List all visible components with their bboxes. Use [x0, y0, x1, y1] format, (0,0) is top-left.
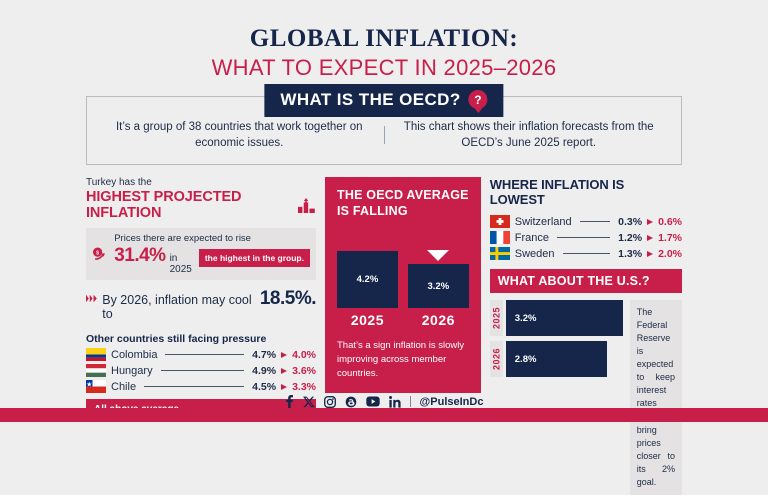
- linkedin-icon[interactable]: [389, 396, 401, 408]
- leader-line: [557, 237, 610, 238]
- turkey-rise-lead: Prices there are expected to rise: [114, 233, 310, 244]
- leader-line: [563, 253, 611, 254]
- oecd-explainer-section: WHAT IS THE OECD? ? It’s a group of 38 c…: [86, 96, 682, 165]
- turkey-kicker: Turkey has the: [86, 177, 316, 188]
- value-2025: 1.2%: [618, 232, 642, 244]
- oecd-average-bar-chart: 4.2% 2025 3.2% 2026: [337, 237, 469, 328]
- lowest-heading: WHERE INFLATION IS LOWEST: [490, 177, 682, 207]
- bottom-accent-bar: [0, 408, 768, 422]
- oecd-average-note: That’s a sign inflation is slowly improv…: [337, 339, 469, 380]
- turkey-highest-badge: the highest in the group.: [199, 249, 310, 267]
- value-2026: 4.0%: [292, 349, 316, 361]
- oecd-average-card: THE OECD AVERAGE IS FALLING 4.2% 2025 3.…: [325, 177, 481, 393]
- turkey-rise-values: 31.4% in 2025 the highest in the group.: [114, 245, 310, 275]
- oecd-divider: [384, 126, 385, 144]
- us-year-label-2025: 2025: [490, 300, 503, 336]
- infographic-page: GLOBAL INFLATION: WHAT TO EXPECT IN 2025…: [0, 0, 768, 422]
- youtube-icon[interactable]: [366, 396, 380, 407]
- page-title: GLOBAL INFLATION: WHAT TO EXPECT IN 2025…: [0, 0, 768, 82]
- oecd-average-title-line1: THE OECD AVERAGE: [337, 188, 469, 204]
- oecd-average-title: THE OECD AVERAGE IS FALLING: [337, 188, 469, 219]
- bar-group-2025: 4.2% 2025: [337, 237, 398, 328]
- value-2026: 3.6%: [292, 365, 316, 377]
- us-year-label-2026: 2026: [490, 341, 503, 377]
- value-2025: 0.3%: [618, 216, 642, 228]
- list-item: Colombia 4.7% 4.0%: [86, 348, 316, 361]
- bar-label-2026: 2026: [408, 312, 469, 328]
- chile-flag-icon: [86, 380, 106, 393]
- instagram-icon[interactable]: [324, 396, 336, 408]
- footer-divider: [410, 396, 411, 407]
- title-line-2: WHAT TO EXPECT IN 2025–2026: [0, 54, 768, 82]
- switzerland-flag-icon: [490, 215, 510, 228]
- turkey-cool-text: By 2026, inflation may cool to: [102, 293, 256, 321]
- value-2025: 4.5%: [252, 381, 276, 393]
- hungary-flag-icon: [86, 364, 106, 377]
- turkey-headline: HIGHEST PROJECTED INFLATION: [86, 189, 293, 221]
- oecd-average-panel: THE OECD AVERAGE IS FALLING 4.2% 2025 3.…: [325, 177, 481, 393]
- bar-label-2025: 2025: [337, 312, 398, 328]
- list-item: Hungary 4.9% 3.6%: [86, 364, 316, 377]
- value-2025: 4.7%: [252, 349, 276, 361]
- leader-line: [580, 221, 611, 222]
- country-name: Sweden: [515, 248, 555, 260]
- country-name: France: [515, 232, 549, 244]
- question-mark-icon: ?: [469, 90, 488, 109]
- money-rise-icon: $: [92, 241, 108, 267]
- us-bar-row-2026: 2026 2.8%: [490, 341, 623, 377]
- arrow-right-icon: [647, 219, 653, 225]
- left-column: Turkey has the HIGHEST PROJECTED INFLATI…: [86, 177, 316, 420]
- list-item: Sweden 1.3% 2.0%: [490, 247, 682, 260]
- arrow-right-icon: [281, 384, 287, 390]
- bar-group-2026: 3.2% 2026: [408, 250, 469, 328]
- value-2026: 1.7%: [658, 232, 682, 244]
- value-2026: 3.3%: [292, 381, 316, 393]
- bar-2026: 3.2%: [408, 264, 469, 308]
- country-name: Switzerland: [515, 216, 572, 228]
- leader-line: [165, 354, 244, 355]
- turkey-headline-row: HIGHEST PROJECTED INFLATION: [86, 189, 316, 221]
- title-line-1: GLOBAL INFLATION:: [0, 26, 768, 52]
- leader-line: [161, 370, 245, 371]
- turkey-2026-value: 18.5%.: [260, 288, 316, 310]
- us-banner: WHAT ABOUT THE U.S.?: [490, 269, 682, 293]
- us-bar-2026: 2.8%: [506, 341, 607, 377]
- bar-2025: 4.2%: [337, 251, 398, 308]
- us-bar-row-2025: 2025 3.2%: [490, 300, 623, 336]
- bar-spacer: [337, 237, 398, 251]
- x-icon[interactable]: [303, 396, 315, 408]
- oecd-average-title-line2: IS FALLING: [337, 204, 469, 220]
- oecd-description-left: It’s a group of 38 countries that work t…: [101, 119, 378, 152]
- facebook-icon[interactable]: [285, 395, 294, 408]
- right-column: WHERE INFLATION IS LOWEST Switzerland 0.…: [490, 177, 682, 495]
- country-name: Chile: [111, 381, 136, 393]
- threads-icon[interactable]: [345, 396, 357, 408]
- arrow-right-icon: [86, 293, 98, 304]
- footer: @PulseInDc: [0, 395, 768, 408]
- other-countries-heading: Other countries still facing pressure: [86, 333, 316, 345]
- arrow-right-icon: [281, 368, 287, 374]
- leader-line: [144, 386, 244, 387]
- list-item: Chile 4.5% 3.3%: [86, 380, 316, 393]
- question-glyph: ?: [474, 93, 482, 107]
- country-name: Hungary: [111, 365, 153, 377]
- turkey-2025-value: 31.4%: [114, 245, 165, 267]
- arrow-right-icon: [647, 251, 653, 257]
- arrow-right-icon: [647, 235, 653, 241]
- colombia-flag-icon: [86, 348, 106, 361]
- list-item: Switzerland 0.3% 0.6%: [490, 215, 682, 228]
- oecd-description-right: This chart shows their inflation forecas…: [391, 119, 668, 152]
- oecd-banner: WHAT IS THE OECD? ?: [264, 84, 503, 117]
- country-name: Colombia: [111, 349, 157, 361]
- turkey-rise-card: $ Prices there are expected to rise 31.4…: [86, 228, 316, 280]
- us-bar-2025: 3.2%: [506, 300, 623, 336]
- lowest-list: Switzerland 0.3% 0.6% France 1.2% 1.7%: [490, 215, 682, 260]
- social-handle[interactable]: @PulseInDc: [420, 396, 484, 408]
- turkey-2025-year: in 2025: [170, 253, 192, 275]
- oecd-banner-label: WHAT IS THE OECD?: [280, 90, 460, 110]
- value-2025: 1.3%: [618, 248, 642, 260]
- list-item: France 1.2% 1.7%: [490, 231, 682, 244]
- value-2026: 2.0%: [658, 248, 682, 260]
- value-2025: 4.9%: [252, 365, 276, 377]
- content-columns: Turkey has the HIGHEST PROJECTED INFLATI…: [0, 165, 768, 495]
- turkey-cool-row: By 2026, inflation may cool to 18.5%.: [86, 288, 316, 321]
- down-triangle-icon: [427, 250, 449, 261]
- france-flag-icon: [490, 231, 510, 244]
- bar-chart-up-icon: [298, 197, 316, 214]
- sweden-flag-icon: [490, 247, 510, 260]
- arrow-right-icon: [281, 352, 287, 358]
- value-2026: 0.6%: [658, 216, 682, 228]
